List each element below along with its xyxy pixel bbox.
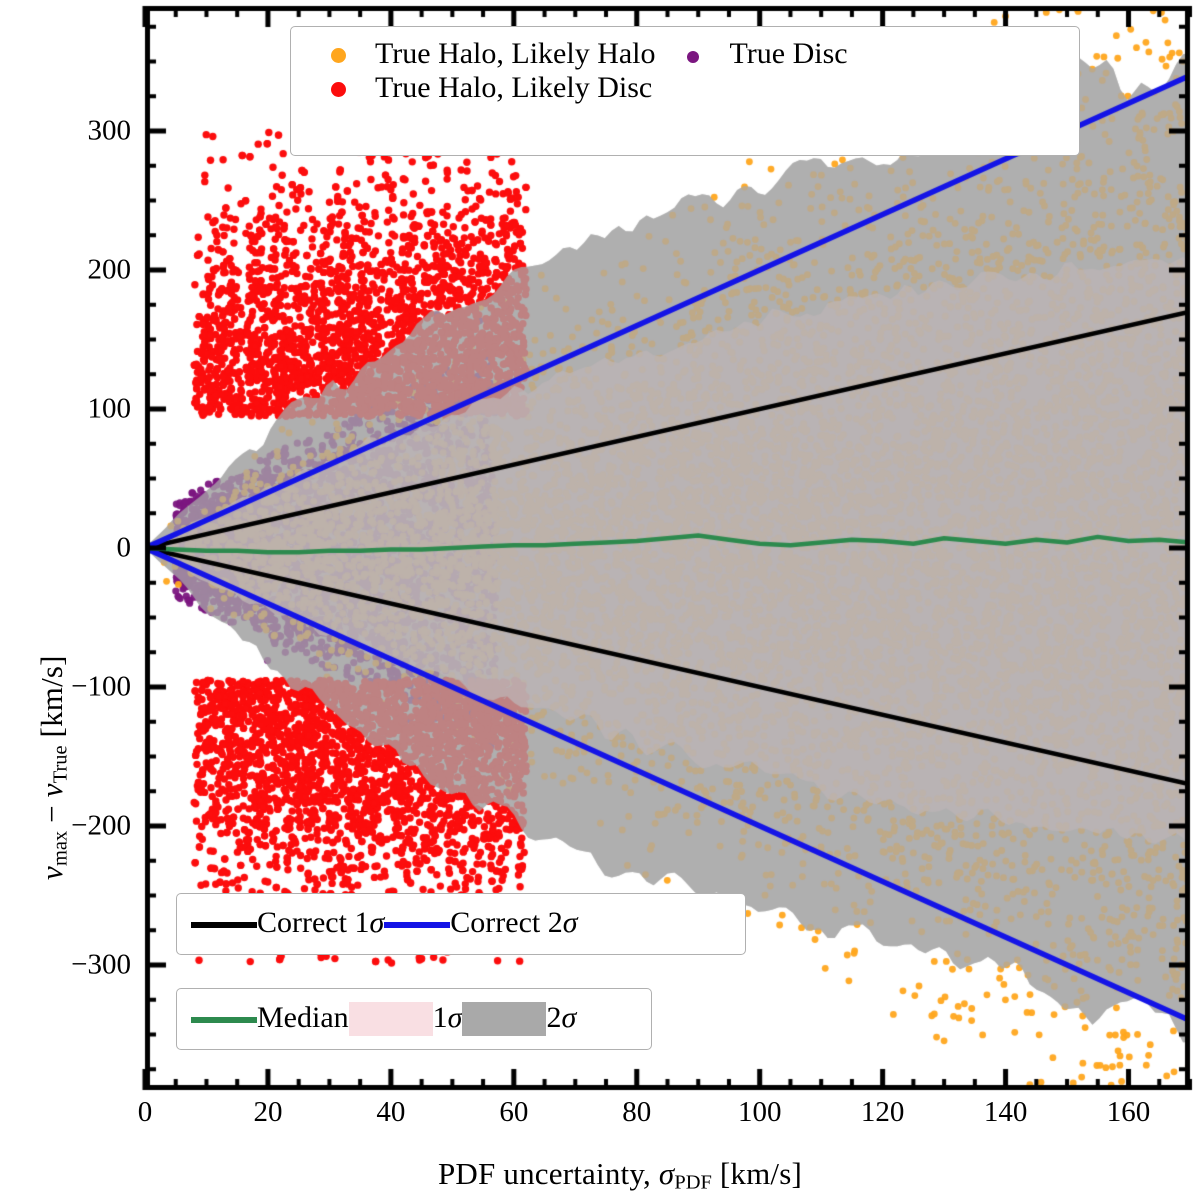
- x-tick-label: 20: [253, 1096, 282, 1129]
- x-tick-label: 80: [622, 1096, 651, 1129]
- legend-line-correct-2sigma: [384, 894, 450, 952]
- x-axis-label-post: [km/s]: [712, 1156, 802, 1191]
- legend-scatter-classes: True Halo, Likely Halo True Disc True Ha…: [290, 26, 1080, 156]
- legend-label-true-halo-likely-halo: True Halo, Likely Halo: [375, 37, 656, 71]
- y-axis-label-v2: v: [34, 783, 69, 797]
- x-axis-label: PDF uncertainty, σPDF [km/s]: [0, 1156, 1200, 1195]
- legend-marker-true-disc: [656, 37, 730, 71]
- x-tick-label: 160: [1107, 1096, 1151, 1129]
- legend-label-correct-1sigma: Correct 1σ: [257, 894, 384, 952]
- y-tick-label: 300: [88, 115, 132, 148]
- y-tick-label: 0: [117, 532, 132, 565]
- legend-patch-1sigma: [349, 989, 433, 1047]
- x-tick-label: 0: [138, 1096, 153, 1129]
- x-tick-label: 120: [861, 1096, 905, 1129]
- legend-label-1sigma-symbol: σ: [448, 1001, 463, 1034]
- y-tick-label: 100: [88, 393, 132, 426]
- x-axis-label-pre: PDF uncertainty,: [438, 1156, 659, 1191]
- legend-label-correct-2sigma: Correct 2σ: [450, 894, 577, 952]
- legend-median-and-bands: Median 1σ 2σ: [176, 988, 652, 1050]
- legend-row: Median 1σ 2σ: [191, 989, 576, 1047]
- legend-line-median: [191, 989, 257, 1047]
- y-axis-label-sub2: True: [50, 745, 72, 783]
- y-tick-label: −300: [71, 948, 131, 981]
- legend-label-median: Median: [257, 989, 349, 1047]
- legend-label-true-disc: True Disc: [730, 37, 848, 71]
- x-tick-label: 60: [499, 1096, 528, 1129]
- legend-label-correct-2sigma-symbol: σ: [563, 906, 578, 939]
- y-tick-label: 200: [88, 254, 132, 287]
- y-axis-label-post: [km/s]: [34, 655, 69, 745]
- figure-root: PDF uncertainty, σPDF [km/s] vmax − vTru…: [0, 0, 1200, 1200]
- legend-label-median-text: Median: [257, 1001, 349, 1034]
- legend-label-2sigma-symbol: σ: [561, 1001, 576, 1034]
- legend-row: Correct 1σ Correct 2σ: [191, 894, 578, 952]
- y-tick-label: −200: [71, 809, 131, 842]
- y-axis-label-v1: v: [34, 866, 69, 880]
- legend-label-correct-1sigma-symbol: σ: [369, 906, 384, 939]
- legend-row: True Halo, Likely Halo True Disc: [301, 37, 848, 71]
- legend-marker-true-halo-likely-disc: [301, 71, 375, 105]
- y-axis-label-sub1: max: [50, 831, 72, 866]
- legend-correct-sigma-lines: Correct 1σ Correct 2σ: [176, 893, 746, 955]
- legend-patch-2sigma: [462, 989, 546, 1047]
- legend-label-correct-1sigma-text: Correct 1: [257, 906, 369, 939]
- y-axis-label-minus: −: [34, 797, 69, 831]
- legend-row: True Halo, Likely Disc: [301, 71, 848, 105]
- x-tick-label: 40: [376, 1096, 405, 1129]
- legend-label-1sigma: 1σ: [433, 989, 463, 1047]
- legend-label-2sigma-text: 2: [546, 1001, 561, 1034]
- x-tick-label: 140: [984, 1096, 1028, 1129]
- y-tick-label: −100: [71, 670, 131, 703]
- legend-marker-true-halo-likely-halo: [301, 37, 375, 71]
- legend-label-correct-2sigma-text: Correct 2: [450, 906, 562, 939]
- legend-label-true-halo-likely-disc: True Halo, Likely Disc: [375, 71, 656, 105]
- legend-label-1sigma-text: 1: [433, 1001, 448, 1034]
- legend-line-correct-1sigma: [191, 894, 257, 952]
- x-tick-label: 100: [738, 1096, 782, 1129]
- y-axis-label: vmax − vTrue [km/s]: [34, 655, 73, 880]
- x-axis-label-symbol: σ: [659, 1156, 675, 1191]
- x-axis-label-subscript: PDF: [674, 1171, 712, 1193]
- legend-label-2sigma: 2σ: [546, 989, 576, 1047]
